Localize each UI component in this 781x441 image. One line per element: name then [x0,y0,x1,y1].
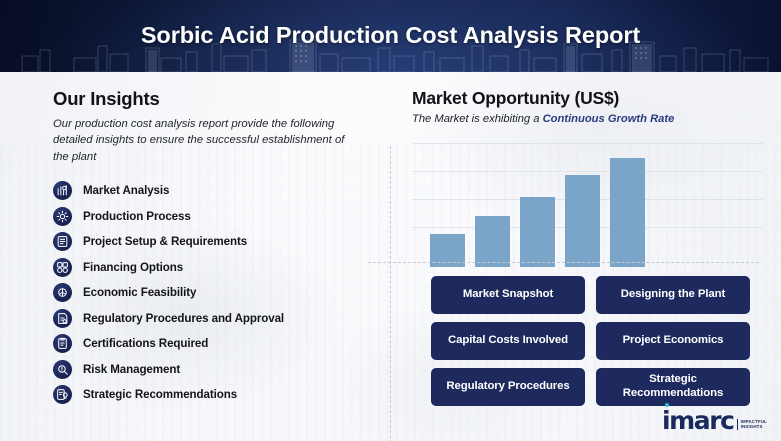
chart-bar [610,158,645,267]
insights-list: Market Analysis Production Process [53,178,368,408]
page-header: Sorbic Acid Production Cost Analysis Rep… [0,0,781,72]
capital-costs-involved-button[interactable]: Capital Costs Involved [431,322,585,360]
list-item[interactable]: Market Analysis [53,178,368,204]
designing-the-plant-button[interactable]: Designing the Plant [596,276,750,314]
chart-bar [475,216,510,267]
subtitle-accent-text: Continuous Growth Rate [543,113,675,125]
market-opportunity-panel: Market Opportunity (US$) The Market is e… [390,72,781,441]
financing-options-icon [53,258,72,277]
list-item[interactable]: Economic Feasibility [53,280,368,306]
risk-management-icon [53,360,72,379]
insights-subtitle: Our production cost analysis report prov… [53,116,345,165]
list-item-label: Production Process [83,210,191,223]
list-item-label: Strategic Recommendations [83,388,237,401]
strategic-recommendations-button[interactable]: Strategic Recommendations [596,368,750,406]
content-area: Our Insights Our production cost analysi… [0,72,781,441]
chart-bar [520,197,555,267]
vertical-divider [390,146,391,441]
logo-wordmark-text: imarc [662,406,734,435]
insights-title: Our Insights [53,88,368,110]
certifications-icon [53,334,72,353]
horizontal-divider [368,262,759,263]
market-opportunity-subtitle: The Market is exhibiting a Continuous Gr… [412,113,759,125]
regulatory-procedures-icon [53,309,72,328]
project-setup-icon [53,232,72,251]
report-infographic-page: Sorbic Acid Production Cost Analysis Rep… [0,0,781,441]
subtitle-plain-text: The Market is exhibiting a [412,113,543,125]
list-item-label: Certifications Required [83,337,208,350]
economic-feasibility-icon [53,283,72,302]
logo-tagline: IMPACTFUL INSIGHTS [737,419,767,430]
page-title: Sorbic Acid Production Cost Analysis Rep… [0,22,781,49]
list-item[interactable]: Regulatory Procedures and Approval [53,306,368,332]
market-opportunity-bar-chart [412,131,763,267]
list-item-label: Project Setup & Requirements [83,235,247,248]
list-item-label: Regulatory Procedures and Approval [83,312,284,325]
production-process-icon [53,207,72,226]
list-item-label: Economic Feasibility [83,286,196,299]
list-item[interactable]: Project Setup & Requirements [53,229,368,255]
list-item[interactable]: Strategic Recommendations [53,382,368,408]
list-item-label: Financing Options [83,261,183,274]
imarc-logo: imarc IMPACTFUL INSIGHTS [662,408,767,433]
list-item[interactable]: Certifications Required [53,331,368,357]
chart-bar [565,175,600,267]
market-analysis-icon [53,181,72,200]
regulatory-procedures-button[interactable]: Regulatory Procedures [431,368,585,406]
logo-tagline-line2: INSIGHTS [741,424,767,430]
list-item-label: Risk Management [83,363,180,376]
market-snapshot-button[interactable]: Market Snapshot [431,276,585,314]
logo-wordmark: imarc [662,408,734,433]
insights-panel: Our Insights Our production cost analysi… [0,72,390,441]
chart-bars [430,145,763,267]
strategic-recommendations-icon [53,385,72,404]
list-item-label: Market Analysis [83,184,169,197]
market-opportunity-title: Market Opportunity (US$) [412,88,759,109]
project-economics-button[interactable]: Project Economics [596,322,750,360]
topics-button-grid: Market Snapshot Designing the Plant Capi… [431,276,750,406]
list-item[interactable]: Production Process [53,204,368,230]
list-item[interactable]: Financing Options [53,255,368,281]
list-item[interactable]: Risk Management [53,357,368,383]
